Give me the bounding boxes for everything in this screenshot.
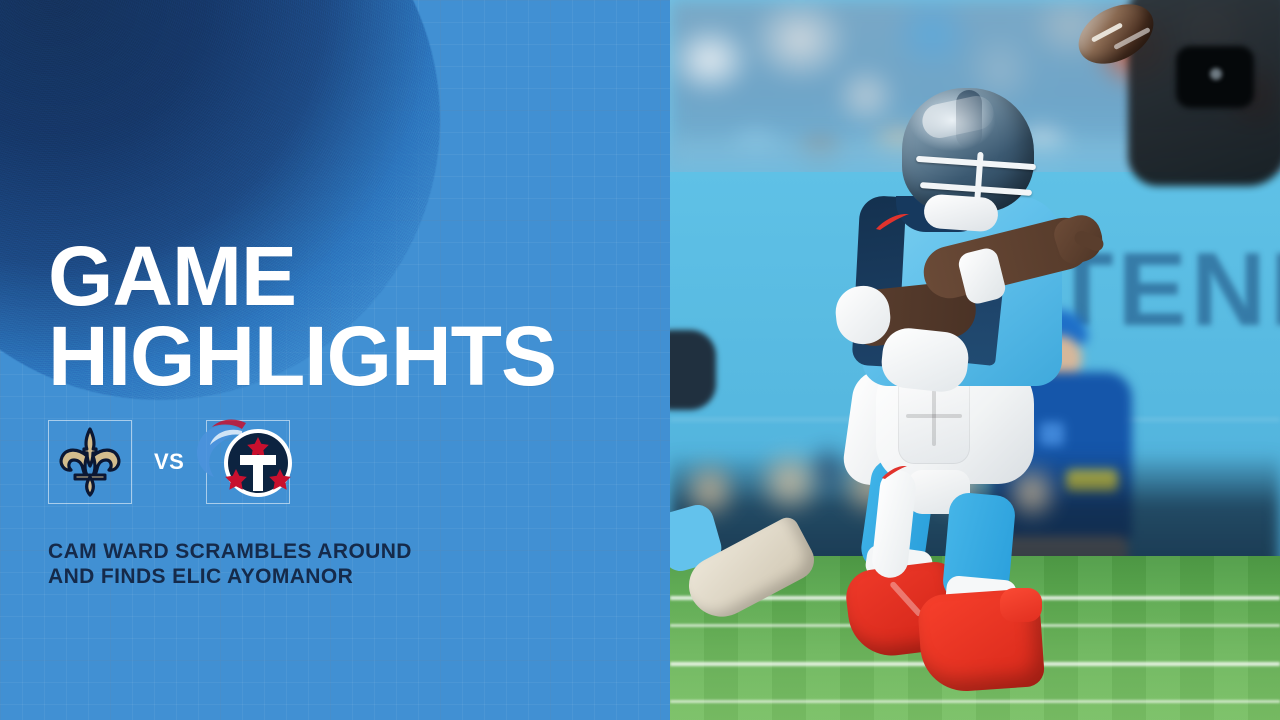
away-team-logo-badge[interactable] — [48, 420, 132, 504]
front-cleat-heel — [1000, 588, 1042, 622]
titans-t-flame-icon — [196, 419, 300, 505]
other-player-shoulder — [670, 330, 716, 410]
highlight-photo: TENN — [670, 0, 1280, 720]
headline-line-highlights: HIGHLIGHTS — [48, 320, 556, 392]
thigh-pad-seam-vertical — [932, 390, 936, 446]
highlight-thumbnail: GAME HIGHLIGHTS — [0, 0, 1280, 720]
camera-lens-glint — [1210, 68, 1222, 80]
nike-swoosh-icon — [876, 214, 910, 231]
headline-line-game: GAME — [48, 240, 556, 312]
matchup-row: VS — [48, 420, 290, 504]
thigh-pad-seam-horizontal — [906, 414, 962, 418]
elbow-sleeve — [879, 326, 971, 395]
nike-swoosh-icon — [882, 466, 908, 480]
description-line-1: CAM WARD SCRAMBLES AROUND — [48, 540, 548, 565]
home-team-logo-badge[interactable] — [206, 420, 290, 504]
title-panel: GAME HIGHLIGHTS — [0, 0, 670, 720]
saints-fleur-de-lis-icon — [55, 425, 125, 499]
description-line-2: AND FINDS ELIC AYOMANOR — [48, 565, 548, 590]
highlight-description: CAM WARD SCRAMBLES AROUND AND FINDS ELIC… — [48, 540, 548, 590]
page-title: GAME HIGHLIGHTS — [48, 240, 556, 392]
vs-label: VS — [154, 449, 184, 475]
chinstrap — [923, 193, 999, 232]
